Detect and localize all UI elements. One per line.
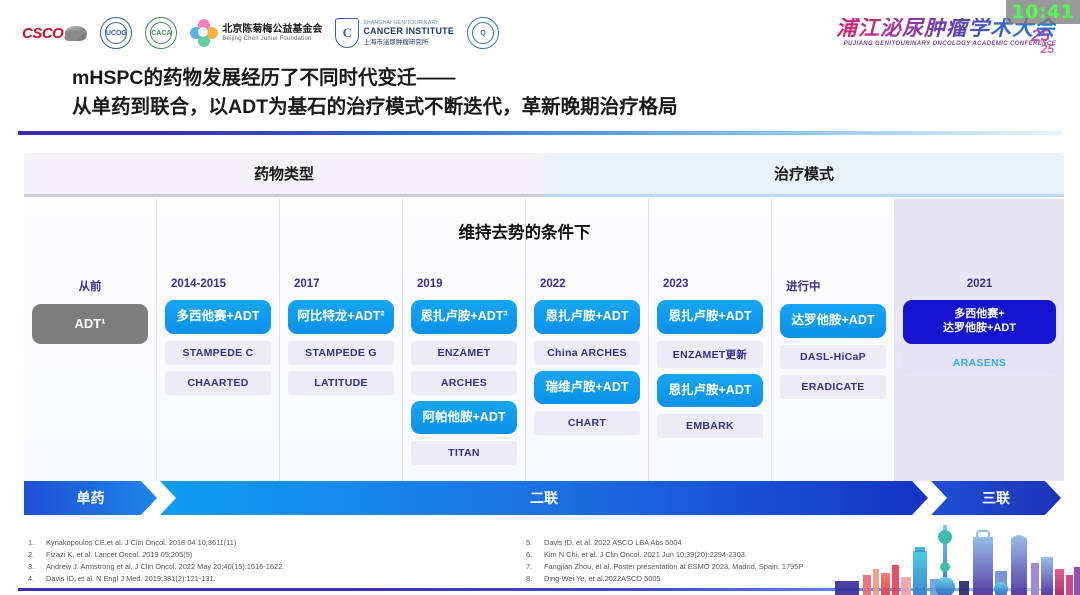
column-items: 达罗他胺+ADTDASL-HiCaPERADICATE [780, 304, 886, 405]
phase-monotherapy: 单药 [24, 481, 157, 515]
qilu-seal-logo: Q [467, 17, 499, 49]
column-year-label: 从前 [79, 278, 102, 294]
partner-logos: CSCO UCOG CACA 北京陈菊梅公益基金会 Beijing Chen J… [22, 14, 499, 52]
column-items: 恩扎卢胺+ADT³ENZAMETARCHES阿帕他胺+ADTTITAN [411, 300, 517, 471]
category-tabs: 药物类型 治疗模式 [24, 153, 1064, 197]
reference-text: Andrew J. Armstrong et al. J Clin Oncol.… [46, 561, 284, 573]
trial-chip[interactable]: China ARCHES [534, 341, 640, 365]
reference-text: Davis ID, et al. 2022 ASCO LBA Abs 5004 [544, 537, 682, 549]
column-year-label: 进行中 [780, 278, 821, 294]
header-logo-bar: CSCO UCOG CACA 北京陈菊梅公益基金会 Beijing Chen J… [0, 0, 1080, 62]
timeline-column: 2017阿比特龙+ADT²STAMPEDE GLATITUDE [280, 199, 403, 481]
regimen-pill[interactable]: 恩扎卢胺+ADT [534, 300, 640, 334]
column-year-label: 2021 [967, 278, 993, 290]
shield-icon: C [335, 18, 359, 48]
reference-number: 2. [28, 549, 38, 561]
foundation-logo-labels: 北京陈菊梅公益基金会 Beijing Chen Jumei Foundation [222, 24, 322, 42]
regimen-pill[interactable]: 达罗他胺+ADT [780, 304, 886, 338]
reference-number: 4. [28, 573, 38, 585]
timeline-column: 2021多西他赛+达罗他胺+ADTARASENS [895, 199, 1064, 481]
beijing-chen-jumei-foundation-logo: 北京陈菊梅公益基金会 Beijing Chen Jumei Foundation [190, 19, 322, 47]
reference-text: Davis ID, et al. N Engl J Med. 2019;381(… [46, 573, 216, 585]
column-items: 多西他赛+达罗他胺+ADTARASENS [903, 300, 1056, 381]
qilu-seal-text: Q [472, 22, 494, 44]
reference-text: Kim N Chi, et al. J Clin Oncol. 2021 Jun… [544, 549, 747, 561]
reference-item: 3.Andrew J. Armstrong et al. J Clin Onco… [28, 561, 498, 573]
regimen-pill[interactable]: 恩扎卢胺+ADT³ [411, 300, 517, 334]
trial-chip[interactable]: TITAN [411, 441, 517, 465]
timeline-column: 2023恩扎卢胺+ADTENZAMET更新恩扎卢胺+ADTEMBARK [649, 199, 772, 481]
trial-chip[interactable]: ARCHES [411, 371, 517, 395]
timeline-board: 维持去势的条件下 从前ADT¹2014-2015多西他赛+ADTSTAMPEDE… [24, 199, 1064, 481]
regimen-pill[interactable]: 多西他赛+ADT [165, 300, 271, 334]
conference-edition-badge-small: 25 [1041, 42, 1054, 56]
trial-chip[interactable]: CHART [534, 411, 640, 435]
society-seal-logo: CACA [145, 17, 177, 49]
trial-chip[interactable]: ERADICATE [780, 375, 886, 399]
reference-text: Kyriakopoulos CE,et al. J Clin Oncol. 20… [46, 537, 236, 549]
tab-treatment-mode[interactable]: 治疗模式 [544, 153, 1064, 197]
regimen-pill[interactable]: 多西他赛+达罗他胺+ADT [903, 300, 1056, 344]
reference-number: 1. [28, 537, 38, 549]
timeline-column: 2022恩扎卢胺+ADTChina ARCHES瑞维卢胺+ADTCHART [526, 199, 649, 481]
column-year-label: 2023 [657, 278, 689, 290]
conference-name-en: PUJIANG GENITOURINARY ONCOLOGY ACADEMIC … [836, 41, 1056, 47]
page-title: mHSPC的药物发展经历了不同时代变迁—— 从单药到联合，以ADT为基石的治疗模… [72, 64, 678, 123]
phase-triplet: 三联 [931, 481, 1061, 515]
timeline-column: 进行中达罗他胺+ADTDASL-HiCaPERADICATE [772, 199, 895, 481]
timeline-column: 从前ADT¹ [24, 199, 157, 481]
reference-text: Ding-Wei Ye, et al.2022ASCO 5005 [544, 573, 661, 585]
institute-name-en2: CANCER INSTITUTE [363, 26, 454, 36]
reference-number: 5. [526, 537, 536, 549]
phase-doublet: 二联 [160, 481, 928, 515]
regimen-pill[interactable]: ADT¹ [32, 304, 148, 344]
regimen-pill[interactable]: 阿比特龙+ADT² [288, 300, 394, 334]
reference-number: 8. [526, 573, 536, 585]
trial-chip[interactable]: DASL-HiCaP [780, 345, 886, 369]
trial-chip[interactable]: STAMPEDE G [288, 341, 394, 365]
clock-overlay: 10:41 [1006, 0, 1080, 24]
timeline-column: 2014-2015多西他赛+ADTSTAMPEDE CCHAARTED [157, 199, 280, 481]
trial-chip[interactable]: STAMPEDE C [165, 341, 271, 365]
trial-chip[interactable]: EMBARK [657, 414, 763, 438]
trial-chip[interactable]: ENZAMET更新 [657, 341, 763, 368]
therapy-phase-bar: 单药 二联 三联 [24, 481, 1064, 515]
column-year-label: 2022 [534, 278, 566, 290]
institute-logo-labels: SHANGHAI GENITOURINARY CANCER INSTITUTE … [363, 20, 454, 46]
csco-logo-text: CSCO [22, 26, 63, 41]
reference-item: 2.Fizazi K, et al. Lancet Oncol. 2019 05… [28, 549, 498, 561]
trial-chip[interactable]: CHAARTED [165, 371, 271, 395]
society-seal-text: CACA [150, 22, 172, 44]
regimen-pill[interactable]: 阿帕他胺+ADT [411, 401, 517, 435]
reference-item: 1.Kyriakopoulos CE,et al. J Clin Oncol. … [28, 537, 498, 549]
trial-chip[interactable]: ARASENS [903, 351, 1056, 375]
references-column-left: 1.Kyriakopoulos CE,et al. J Clin Oncol. … [28, 537, 498, 585]
column-items: 阿比特龙+ADT²STAMPEDE GLATITUDE [288, 300, 394, 401]
regimen-pill[interactable]: 恩扎卢胺+ADT [657, 374, 763, 408]
foundation-name-cn: 北京陈菊梅公益基金会 [222, 24, 322, 36]
trial-chip[interactable]: ENZAMET [411, 341, 517, 365]
reference-number: 7. [526, 561, 536, 573]
reference-text: Fangjian Zhou, et al. Poster presentatio… [544, 561, 803, 573]
foundation-name-en: Beijing Chen Jumei Foundation [222, 36, 322, 42]
title-divider [18, 131, 1062, 135]
ucog-logo: UCOG [100, 17, 132, 49]
tab-drug-type[interactable]: 药物类型 [24, 153, 544, 197]
regimen-pill[interactable]: 瑞维卢胺+ADT [534, 371, 640, 405]
reference-text: Fizazi K, et al. Lancet Oncol. 2019 05;2… [46, 549, 192, 561]
csco-logo: CSCO [22, 26, 87, 41]
timeline-column: 2019恩扎卢胺+ADT³ENZAMETARCHES阿帕他胺+ADTTITAN [403, 199, 526, 481]
reference-number: 3. [28, 561, 38, 573]
regimen-pill[interactable]: 恩扎卢胺+ADT [657, 300, 763, 334]
shanghai-genitourinary-cancer-institute-logo: C SHANGHAI GENITOURINARY CANCER INSTITUT… [335, 18, 454, 48]
institute-name-cn: 上海市泌尿肿瘤研究所 [363, 36, 454, 46]
column-items: 恩扎卢胺+ADTChina ARCHES瑞维卢胺+ADTCHART [534, 300, 640, 441]
column-items: ADT¹ [32, 304, 148, 351]
column-year-label: 2019 [411, 278, 443, 290]
column-items: 恩扎卢胺+ADTENZAMET更新恩扎卢胺+ADTEMBARK [657, 300, 763, 444]
column-year-label: 2014-2015 [165, 278, 226, 290]
column-items: 多西他赛+ADTSTAMPEDE CCHAARTED [165, 300, 271, 401]
ucog-logo-text: UCOG [105, 22, 127, 44]
column-year-label: 2017 [288, 278, 320, 290]
reference-item: 4.Davis ID, et al. N Engl J Med. 2019;38… [28, 573, 498, 585]
page-title-line1: mHSPC的药物发展经历了不同时代变迁—— [72, 64, 678, 93]
shanghai-skyline-illustration [835, 523, 1080, 595]
page-title-line2: 从单药到联合，以ADT为基石的治疗模式不断迭代，革新晚期治疗格局 [72, 93, 678, 122]
trial-chip[interactable]: LATITUDE [288, 371, 394, 395]
flower-icon [190, 19, 218, 47]
csco-tiger-icon [64, 26, 88, 41]
reference-number: 6. [526, 549, 536, 561]
